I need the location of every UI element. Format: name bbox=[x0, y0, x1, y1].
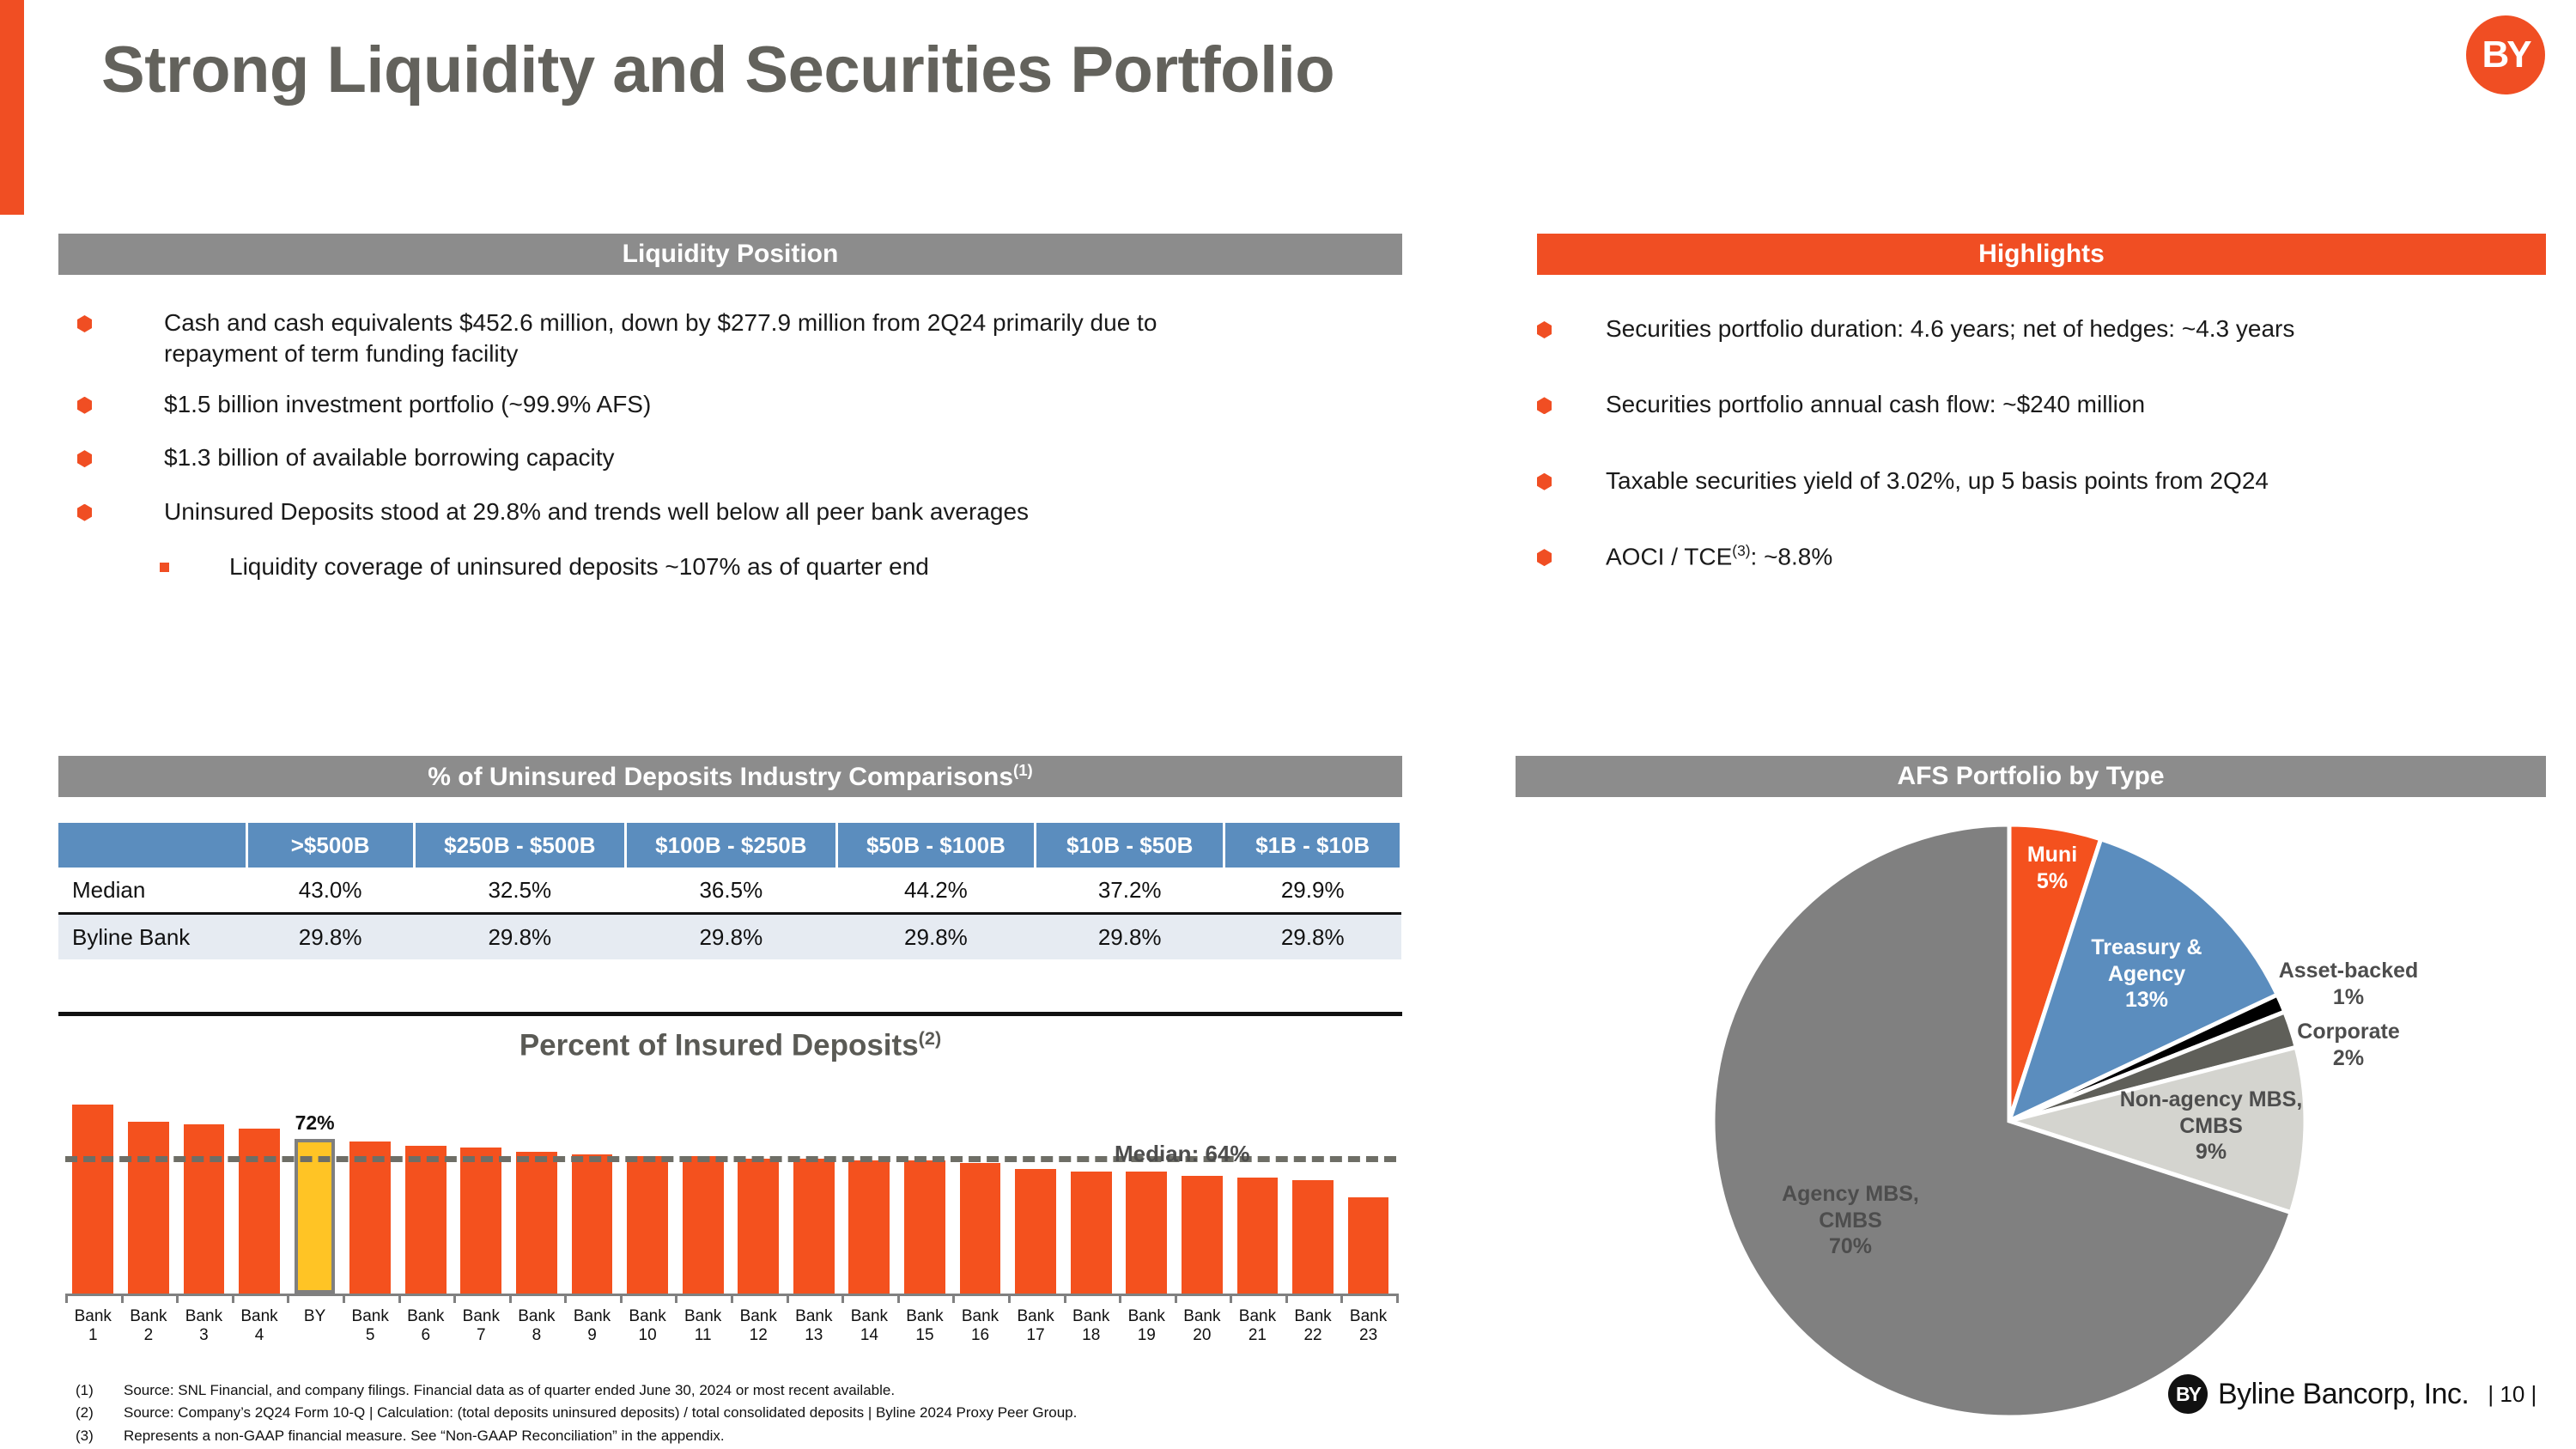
hex-bullet-icon bbox=[1537, 397, 1552, 414]
axis-tick bbox=[1175, 1294, 1177, 1303]
axis-tick bbox=[232, 1294, 234, 1303]
bar-rect bbox=[128, 1122, 169, 1294]
hex-bullet-icon bbox=[77, 450, 92, 467]
bar-rect bbox=[960, 1163, 1001, 1294]
median-value-0: 43.0% bbox=[246, 868, 414, 914]
highlights-header: Highlights bbox=[1537, 234, 2546, 275]
bar-value-label: 72% bbox=[295, 1111, 335, 1135]
byline-value-4: 29.8% bbox=[1035, 914, 1224, 960]
bar-bank-22 bbox=[1285, 1079, 1341, 1294]
bar-bank-7 bbox=[453, 1079, 509, 1294]
pie-label-agency-mbs: Agency MBS, CMBS 70% bbox=[1752, 1181, 1949, 1260]
category-label: Bank5 bbox=[343, 1307, 398, 1345]
liquidity-bullet-2: $1.3 billion of available borrowing capa… bbox=[164, 442, 615, 473]
bar-bank-20 bbox=[1175, 1079, 1230, 1294]
uninsured-comparison-header-label: % of Uninsured Deposits Industry Compari… bbox=[428, 761, 1033, 792]
pie-label-agency-mbs-value: 70% bbox=[1829, 1234, 1872, 1258]
bar-rect bbox=[349, 1142, 391, 1294]
byline-value-5: 29.8% bbox=[1224, 914, 1401, 960]
col-header-2: $100B - $250B bbox=[625, 823, 836, 868]
pie-label-treasury-agency: Treasury & Agency 13% bbox=[2069, 935, 2224, 1014]
median-value-1: 32.5% bbox=[414, 868, 625, 914]
bar-rect bbox=[904, 1160, 945, 1294]
category-label: Bank14 bbox=[841, 1307, 897, 1345]
list-item: AOCI / TCE(3): ~8.8% bbox=[1537, 541, 2550, 573]
uninsured-comparison-header: % of Uninsured Deposits Industry Compari… bbox=[58, 756, 1402, 797]
bar-bank-21 bbox=[1230, 1079, 1285, 1294]
category-label: Bank6 bbox=[398, 1307, 453, 1345]
bar-bank-18 bbox=[1063, 1079, 1119, 1294]
pie-label-treasury-text: Treasury & Agency bbox=[2091, 935, 2202, 986]
list-item: Securities portfolio duration: 4.6 years… bbox=[1537, 314, 2550, 344]
highlights-bullet-1: Securities portfolio annual cash flow: ~… bbox=[1606, 389, 2145, 420]
bar-bank-16 bbox=[952, 1079, 1008, 1294]
category-label: BY bbox=[287, 1307, 343, 1345]
liquidity-bullet-3: Uninsured Deposits stood at 29.8% and tr… bbox=[164, 496, 1029, 527]
axis-tick bbox=[398, 1294, 401, 1303]
bar-rect bbox=[793, 1159, 835, 1294]
pie-label-corporate-text: Corporate bbox=[2297, 1020, 2399, 1044]
list-item: Uninsured Deposits stood at 29.8% and tr… bbox=[77, 496, 1279, 527]
bar-bank-14 bbox=[841, 1079, 897, 1294]
footnote-2-num: (2) bbox=[76, 1402, 124, 1424]
axis-tick bbox=[731, 1294, 733, 1303]
highlights-bullet-2: Taxable securities yield of 3.02%, up 5 … bbox=[1606, 466, 2269, 496]
bar-rect bbox=[1292, 1180, 1334, 1294]
row-label-byline-bank: Byline Bank bbox=[58, 914, 246, 960]
footnote-3-text: Represents a non-GAAP financial measure.… bbox=[124, 1425, 725, 1447]
afs-portfolio-header-label: AFS Portfolio by Type bbox=[1897, 762, 2164, 791]
hex-bullet-icon bbox=[1537, 321, 1552, 338]
footnotes: (1) Source: SNL Financial, and company f… bbox=[76, 1379, 1535, 1447]
category-label: Bank19 bbox=[1119, 1307, 1175, 1345]
bar-bank-23 bbox=[1340, 1079, 1396, 1294]
pie-label-muni-text: Muni bbox=[2027, 843, 2077, 867]
bar-bank-12 bbox=[731, 1079, 787, 1294]
col-header-5: $1B - $10B bbox=[1224, 823, 1401, 868]
comparison-header-text: % of Uninsured Deposits Industry Compari… bbox=[428, 763, 1013, 791]
bar-rect bbox=[1015, 1169, 1056, 1294]
pie-label-corporate-value: 2% bbox=[2333, 1046, 2364, 1070]
bar-bank-15 bbox=[897, 1079, 953, 1294]
aoci-tce-label: AOCI / TCE bbox=[1606, 544, 1732, 570]
page-title: Strong Liquidity and Securities Portfoli… bbox=[101, 33, 1334, 107]
highlights-bullet-3: AOCI / TCE(3): ~8.8% bbox=[1606, 541, 1832, 573]
axis-tick bbox=[1064, 1294, 1066, 1303]
axis-tick bbox=[65, 1294, 68, 1303]
median-value-5: 29.9% bbox=[1224, 868, 1401, 914]
bar-rect bbox=[405, 1146, 447, 1294]
list-item: Securities portfolio annual cash flow: ~… bbox=[1537, 389, 2550, 420]
bar-bank-17 bbox=[1008, 1079, 1064, 1294]
liquidity-position-header: Liquidity Position bbox=[58, 234, 1402, 275]
bar-bank-1 bbox=[65, 1079, 121, 1294]
bar-bank-19 bbox=[1119, 1079, 1175, 1294]
table-header-row: >$500B $250B - $500B $100B - $250B $50B … bbox=[58, 823, 1401, 868]
category-label: Bank22 bbox=[1285, 1307, 1341, 1345]
bar-rect bbox=[572, 1154, 613, 1294]
col-header-0: >$500B bbox=[246, 823, 414, 868]
footnote-1-num: (1) bbox=[76, 1379, 124, 1402]
hex-bullet-icon bbox=[77, 397, 92, 414]
bar-rect bbox=[1237, 1178, 1279, 1294]
table-row: Byline Bank 29.8% 29.8% 29.8% 29.8% 29.8… bbox=[58, 914, 1401, 960]
footnote-1-text: Source: SNL Financial, and company filin… bbox=[124, 1379, 895, 1402]
col-header-4: $10B - $50B bbox=[1035, 823, 1224, 868]
bar-rect bbox=[460, 1148, 501, 1294]
category-label: Bank8 bbox=[509, 1307, 565, 1345]
bar-bank-5 bbox=[343, 1079, 398, 1294]
category-label: Bank7 bbox=[453, 1307, 509, 1345]
bar-bank-3 bbox=[176, 1079, 232, 1294]
comparison-header-footnote-ref: (1) bbox=[1013, 761, 1033, 779]
bar-rect bbox=[239, 1129, 280, 1294]
pie-label-asset-backed-text: Asset-backed bbox=[2279, 959, 2419, 983]
chart-bars-area: 72% bbox=[65, 1079, 1396, 1294]
category-label: Bank11 bbox=[675, 1307, 731, 1345]
chart-title-text: Percent of Insured Deposits bbox=[519, 1029, 919, 1062]
bar-by: 72% bbox=[287, 1079, 343, 1294]
axis-tick bbox=[509, 1294, 512, 1303]
byline-value-0: 29.8% bbox=[246, 914, 414, 960]
bar-rect bbox=[295, 1139, 336, 1294]
axis-tick bbox=[343, 1294, 345, 1303]
median-value-4: 37.2% bbox=[1035, 868, 1224, 914]
bar-rect bbox=[683, 1156, 724, 1294]
category-label: Bank4 bbox=[232, 1307, 288, 1345]
bar-rect bbox=[1126, 1172, 1167, 1294]
chart-title-footnote-ref: (2) bbox=[919, 1027, 942, 1049]
median-value-2: 36.5% bbox=[625, 868, 836, 914]
highlights-bullet-list: Securities portfolio duration: 4.6 years… bbox=[1537, 314, 2550, 573]
axis-tick bbox=[1119, 1294, 1121, 1303]
bar-rect bbox=[184, 1124, 225, 1294]
hex-bullet-icon bbox=[77, 504, 92, 521]
bar-rect bbox=[1071, 1172, 1112, 1294]
footnote-row: (1) Source: SNL Financial, and company f… bbox=[76, 1379, 1535, 1402]
list-item: Taxable securities yield of 3.02%, up 5 … bbox=[1537, 466, 2550, 496]
footer-logo: BY Byline Bancorp, Inc. | 10 | bbox=[2168, 1374, 2537, 1414]
pie-label-treasury-value: 13% bbox=[2125, 988, 2168, 1012]
footer-logo-mark: BY bbox=[2168, 1374, 2208, 1414]
bar-bank-4 bbox=[232, 1079, 288, 1294]
col-header-3: $50B - $100B bbox=[836, 823, 1035, 868]
axis-tick bbox=[453, 1294, 456, 1303]
bar-rect bbox=[627, 1156, 668, 1294]
list-item: $1.3 billion of available borrowing capa… bbox=[77, 442, 1279, 473]
axis-tick bbox=[675, 1294, 677, 1303]
highlights-bullet-0: Securities portfolio duration: 4.6 years… bbox=[1606, 314, 2294, 344]
bar-rect bbox=[738, 1159, 779, 1294]
table-header-blank bbox=[58, 823, 246, 868]
insured-deposits-chart: Percent of Insured Deposits(2) 72% Media… bbox=[58, 1012, 1402, 1373]
pie-label-non-agency-text: Non-agency MBS, CMBS bbox=[2120, 1087, 2303, 1138]
liquidity-bullet-0: Cash and cash equivalents $452.6 million… bbox=[164, 307, 1203, 370]
aoci-tce-value: : ~8.8% bbox=[1751, 544, 1833, 570]
median-value-3: 44.2% bbox=[836, 868, 1035, 914]
axis-tick bbox=[897, 1294, 900, 1303]
liquidity-position-header-label: Liquidity Position bbox=[623, 240, 839, 269]
axis-tick bbox=[1008, 1294, 1011, 1303]
category-label: Bank1 bbox=[65, 1307, 121, 1345]
afs-portfolio-header: AFS Portfolio by Type bbox=[1516, 756, 2546, 797]
list-item: Liquidity coverage of uninsured deposits… bbox=[160, 551, 1279, 582]
hex-bullet-icon bbox=[77, 315, 92, 332]
hex-bullet-icon bbox=[1537, 549, 1552, 566]
category-label: Bank10 bbox=[620, 1307, 676, 1345]
pie-label-agency-mbs-text: Agency MBS, CMBS bbox=[1782, 1182, 1919, 1233]
axis-tick bbox=[620, 1294, 623, 1303]
byline-value-3: 29.8% bbox=[836, 914, 1035, 960]
axis-tick bbox=[564, 1294, 567, 1303]
bar-rect bbox=[1348, 1197, 1389, 1294]
highlights-header-label: Highlights bbox=[1978, 240, 2105, 269]
bar-bank-9 bbox=[564, 1079, 620, 1294]
category-label: Bank17 bbox=[1008, 1307, 1064, 1345]
liquidity-bullet-1: $1.5 billion investment portfolio (~99.9… bbox=[164, 389, 651, 420]
byline-logo-mark: BY bbox=[2466, 15, 2545, 94]
footnote-2-text: Source: Company’s 2Q24 Form 10-Q | Calcu… bbox=[124, 1402, 1077, 1424]
axis-tick bbox=[787, 1294, 789, 1303]
bar-bank-13 bbox=[787, 1079, 842, 1294]
bar-bank-2 bbox=[121, 1079, 177, 1294]
axis-tick bbox=[952, 1294, 955, 1303]
bar-rect bbox=[848, 1160, 890, 1294]
axis-tick bbox=[121, 1294, 124, 1303]
liquidity-sub-bullet-0: Liquidity coverage of uninsured deposits… bbox=[229, 551, 929, 582]
byline-value-1: 29.8% bbox=[414, 914, 625, 960]
uninsured-deposits-table: >$500B $250B - $500B $100B - $250B $50B … bbox=[58, 823, 1402, 959]
footnote-row: (3) Represents a non-GAAP financial meas… bbox=[76, 1425, 1535, 1447]
category-label: Bank12 bbox=[731, 1307, 787, 1345]
axis-tick bbox=[1396, 1294, 1399, 1303]
bar-bank-10 bbox=[620, 1079, 676, 1294]
bar-bank-6 bbox=[398, 1079, 453, 1294]
bar-rect bbox=[1182, 1176, 1223, 1294]
col-header-1: $250B - $500B bbox=[414, 823, 625, 868]
category-label: Bank16 bbox=[952, 1307, 1008, 1345]
category-label: Bank9 bbox=[564, 1307, 620, 1345]
category-label: Bank13 bbox=[787, 1307, 842, 1345]
category-label: Bank2 bbox=[121, 1307, 177, 1345]
pie-label-asset-backed: Asset-backed 1% bbox=[2250, 958, 2447, 1010]
chart-title: Percent of Insured Deposits(2) bbox=[58, 1027, 1402, 1063]
category-label: Bank3 bbox=[176, 1307, 232, 1345]
axis-tick bbox=[1230, 1294, 1232, 1303]
page-number: | 10 | bbox=[2488, 1381, 2537, 1408]
liquidity-bullet-list: Cash and cash equivalents $452.6 million… bbox=[77, 307, 1279, 582]
category-label: Bank15 bbox=[897, 1307, 953, 1345]
pie-label-muni-value: 5% bbox=[2037, 869, 2068, 893]
median-line-label: Median: 64% bbox=[1115, 1141, 1250, 1167]
axis-tick bbox=[1285, 1294, 1288, 1303]
axis-tick bbox=[841, 1294, 844, 1303]
list-item: $1.5 billion investment portfolio (~99.9… bbox=[77, 389, 1279, 420]
pie-label-corporate: Corporate 2% bbox=[2250, 1019, 2447, 1071]
footnote-3-num: (3) bbox=[76, 1425, 124, 1447]
left-accent-bar bbox=[0, 0, 24, 215]
axis-tick bbox=[1340, 1294, 1343, 1303]
category-label: Bank23 bbox=[1340, 1307, 1396, 1345]
row-label-median: Median bbox=[58, 868, 246, 914]
table-row: Median 43.0% 32.5% 36.5% 44.2% 37.2% 29.… bbox=[58, 868, 1401, 914]
hex-bullet-icon bbox=[1537, 473, 1552, 490]
category-label: Bank18 bbox=[1063, 1307, 1119, 1345]
bar-bank-8 bbox=[509, 1079, 565, 1294]
footer-logo-initials: BY bbox=[2176, 1383, 2200, 1406]
bar-rect bbox=[516, 1152, 557, 1294]
list-item: Cash and cash equivalents $452.6 million… bbox=[77, 307, 1279, 370]
pie-label-asset-backed-value: 1% bbox=[2333, 985, 2364, 1009]
category-label: Bank21 bbox=[1230, 1307, 1285, 1345]
square-bullet-icon bbox=[160, 563, 169, 572]
pie-label-non-agency: Non-agency MBS, CMBS 9% bbox=[2112, 1087, 2310, 1166]
bar-bank-11 bbox=[675, 1079, 731, 1294]
footer-company-name: Byline Bancorp, Inc. bbox=[2218, 1378, 2469, 1411]
bar-rect bbox=[72, 1105, 113, 1294]
chart-top-divider bbox=[58, 1012, 1402, 1016]
byline-value-2: 29.8% bbox=[625, 914, 836, 960]
logo-initials: BY bbox=[2482, 33, 2529, 76]
axis-tick bbox=[287, 1294, 289, 1303]
pie-label-non-agency-value: 9% bbox=[2196, 1140, 2227, 1164]
pie-label-muni: Muni 5% bbox=[2001, 842, 2104, 894]
axis-tick bbox=[176, 1294, 179, 1303]
aoci-footnote-ref: (3) bbox=[1732, 542, 1750, 559]
chart-category-labels: Bank1Bank2Bank3Bank4BYBank5Bank6Bank7Ban… bbox=[65, 1307, 1396, 1345]
category-label: Bank20 bbox=[1175, 1307, 1230, 1345]
footnote-row: (2) Source: Company’s 2Q24 Form 10-Q | C… bbox=[76, 1402, 1535, 1424]
